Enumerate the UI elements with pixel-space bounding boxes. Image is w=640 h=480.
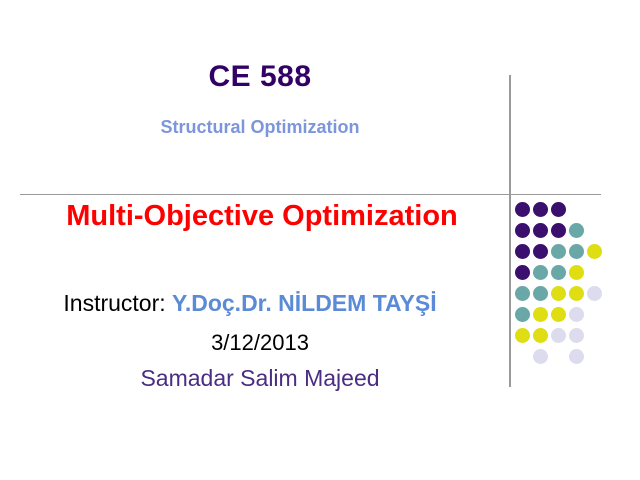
instructor-label: Instructor: (63, 290, 165, 316)
decorative-dot (533, 265, 548, 280)
decorative-dot (533, 349, 548, 364)
decorative-dot (587, 244, 602, 259)
decorative-dot (551, 328, 566, 343)
slide-subtitle: Structural Optimization (0, 117, 520, 138)
decorative-dot (551, 223, 566, 238)
decorative-dot (533, 223, 548, 238)
decorative-dot (515, 202, 530, 217)
decorative-dot (569, 286, 584, 301)
decorative-dot (515, 307, 530, 322)
decorative-dot (533, 286, 548, 301)
slide-date: 3/12/2013 (0, 330, 520, 356)
decorative-dot (551, 244, 566, 259)
decorative-dot (569, 223, 584, 238)
decorative-dot (515, 244, 530, 259)
decorative-dot (533, 244, 548, 259)
decorative-dot (587, 286, 602, 301)
decorative-dot (569, 307, 584, 322)
decorative-dot (569, 244, 584, 259)
decorative-dot (569, 328, 584, 343)
instructor-name: Y.Doç.Dr. NİLDEM TAYŞİ (172, 290, 437, 316)
slide-author: Samadar Salim Majeed (0, 365, 520, 392)
decorative-dot (533, 307, 548, 322)
presentation-slide: CE 588 Structural Optimization Multi-Obj… (0, 0, 640, 480)
decorative-dot (551, 307, 566, 322)
decorative-dot (515, 223, 530, 238)
decorative-dot (551, 265, 566, 280)
decorative-dot (569, 265, 584, 280)
decorative-dot (515, 265, 530, 280)
slide-title: CE 588 (0, 60, 520, 94)
decorative-dot (515, 328, 530, 343)
instructor-line: Instructor: Y.Doç.Dr. NİLDEM TAYŞİ (0, 290, 500, 317)
decorative-dot (533, 202, 548, 217)
decorative-dot-grid (515, 202, 640, 382)
decorative-dot (551, 286, 566, 301)
slide-heading: Multi-Objective Optimization (0, 200, 524, 233)
decorative-dot (515, 286, 530, 301)
decorative-dot (569, 349, 584, 364)
horizontal-divider-rule (20, 194, 601, 195)
decorative-dot (551, 202, 566, 217)
decorative-dot (533, 328, 548, 343)
